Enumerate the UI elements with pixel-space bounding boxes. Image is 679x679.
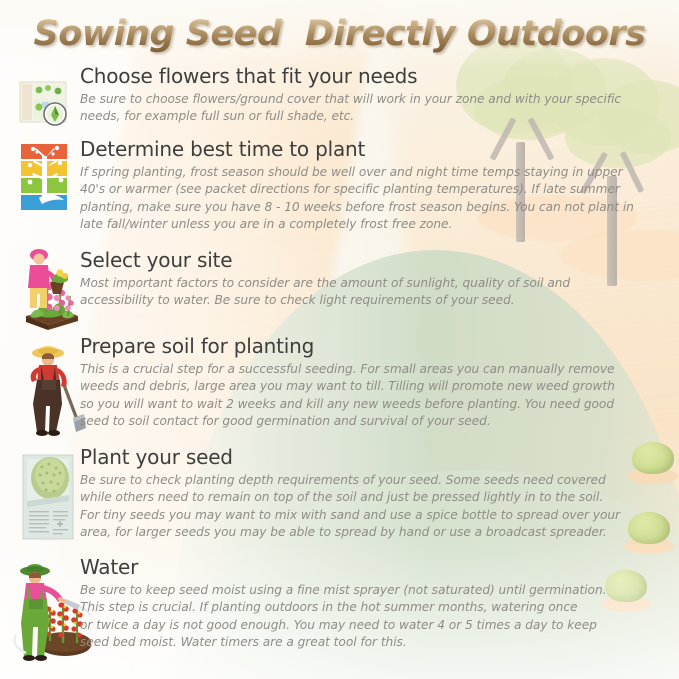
body-line: needs, for example full sun or full shad… <box>80 108 679 125</box>
step-4-heading: Prepare soil for planting <box>80 336 679 357</box>
body-line: This step is crucial. If planting outdoo… <box>80 599 679 616</box>
step-4-text: Prepare soil for planting This is a cruc… <box>80 336 679 430</box>
step-3-body: Most important factors to consider are t… <box>80 275 679 310</box>
step-1-heading: Choose flowers that fit your needs <box>80 66 679 87</box>
body-line: so you will want to wait 2 weeks and kil… <box>80 396 679 413</box>
step-2-text: Determine best time to plant If spring p… <box>80 139 679 233</box>
step-5-text: Plant your seed Be sure to check plantin… <box>80 447 679 541</box>
body-line: 40's or warmer (see packet directions fo… <box>80 181 679 198</box>
infographic-poster: Sowing Seed Directly Outdoors <box>0 0 679 679</box>
body-line: seed to soil contact for good germinatio… <box>80 413 679 430</box>
step-1-text: Choose flowers that fit your needs Be su… <box>80 66 679 126</box>
step-6-body: Be sure to keep seed moist using a fine … <box>80 582 679 651</box>
body-line: planting, make sure you have 8 - 10 week… <box>80 199 679 216</box>
body-line: area, for larger seeds you may be able t… <box>80 524 679 541</box>
step-5-body: Be sure to check planting depth requirem… <box>80 472 679 541</box>
step-6-text: Water Be sure to keep seed moist using a… <box>80 557 679 651</box>
body-line: If spring planting, frost season should … <box>80 164 679 181</box>
four-seasons-tree-icon <box>17 142 75 219</box>
body-line: weeds and debris, large area you may wan… <box>80 378 679 395</box>
body-line: For tiny seeds you may want to mix with … <box>80 507 679 524</box>
body-line: This is a crucial step for a successful … <box>80 361 679 378</box>
step-2-heading: Determine best time to plant <box>80 139 679 160</box>
step-6-heading: Water <box>80 557 679 578</box>
body-line: Be sure to check planting depth requirem… <box>80 472 679 489</box>
steps-list: Choose flowers that fit your needs Be su… <box>0 0 679 679</box>
step-1-body: Be sure to choose flowers/ground cover t… <box>80 91 679 126</box>
body-line: late fall/winter unless you are in a com… <box>80 216 679 233</box>
step-3-heading: Select your site <box>80 250 679 271</box>
body-line: Be sure to keep seed moist using a fine … <box>80 582 679 599</box>
garden-plan-map-icon <box>14 74 76 141</box>
person-planting-flowers-icon <box>14 246 86 337</box>
step-4-body: This is a crucial step for a successful … <box>80 361 679 430</box>
step-2-body: If spring planting, frost season should … <box>80 164 679 233</box>
seed-packet-icon <box>20 453 78 546</box>
step-3-text: Select your site Most important factors … <box>80 250 679 310</box>
body-line: seed bed moist. Water timers are a great… <box>80 634 679 651</box>
person-with-shovel-icon <box>20 340 86 441</box>
body-line: Be sure to choose flowers/ground cover t… <box>80 91 679 108</box>
step-5-heading: Plant your seed <box>80 447 679 468</box>
body-line: accessibility to water. Be sure to check… <box>80 292 679 309</box>
body-line: or twice a day is not good enough. You m… <box>80 617 679 634</box>
body-line: Most important factors to consider are t… <box>80 275 679 292</box>
body-line: while others need to remain on top of th… <box>80 489 679 506</box>
